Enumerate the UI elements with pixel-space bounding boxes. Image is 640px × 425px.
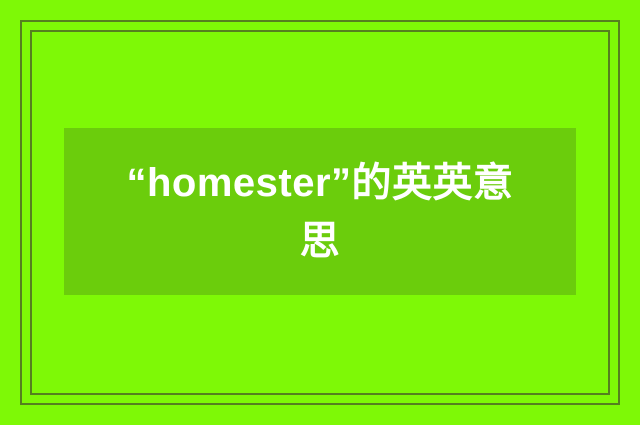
page-title: “homester”的英英意思 xyxy=(120,154,520,270)
title-panel: “homester”的英英意思 xyxy=(64,128,576,295)
page-canvas: “homester”的英英意思 xyxy=(0,0,640,425)
